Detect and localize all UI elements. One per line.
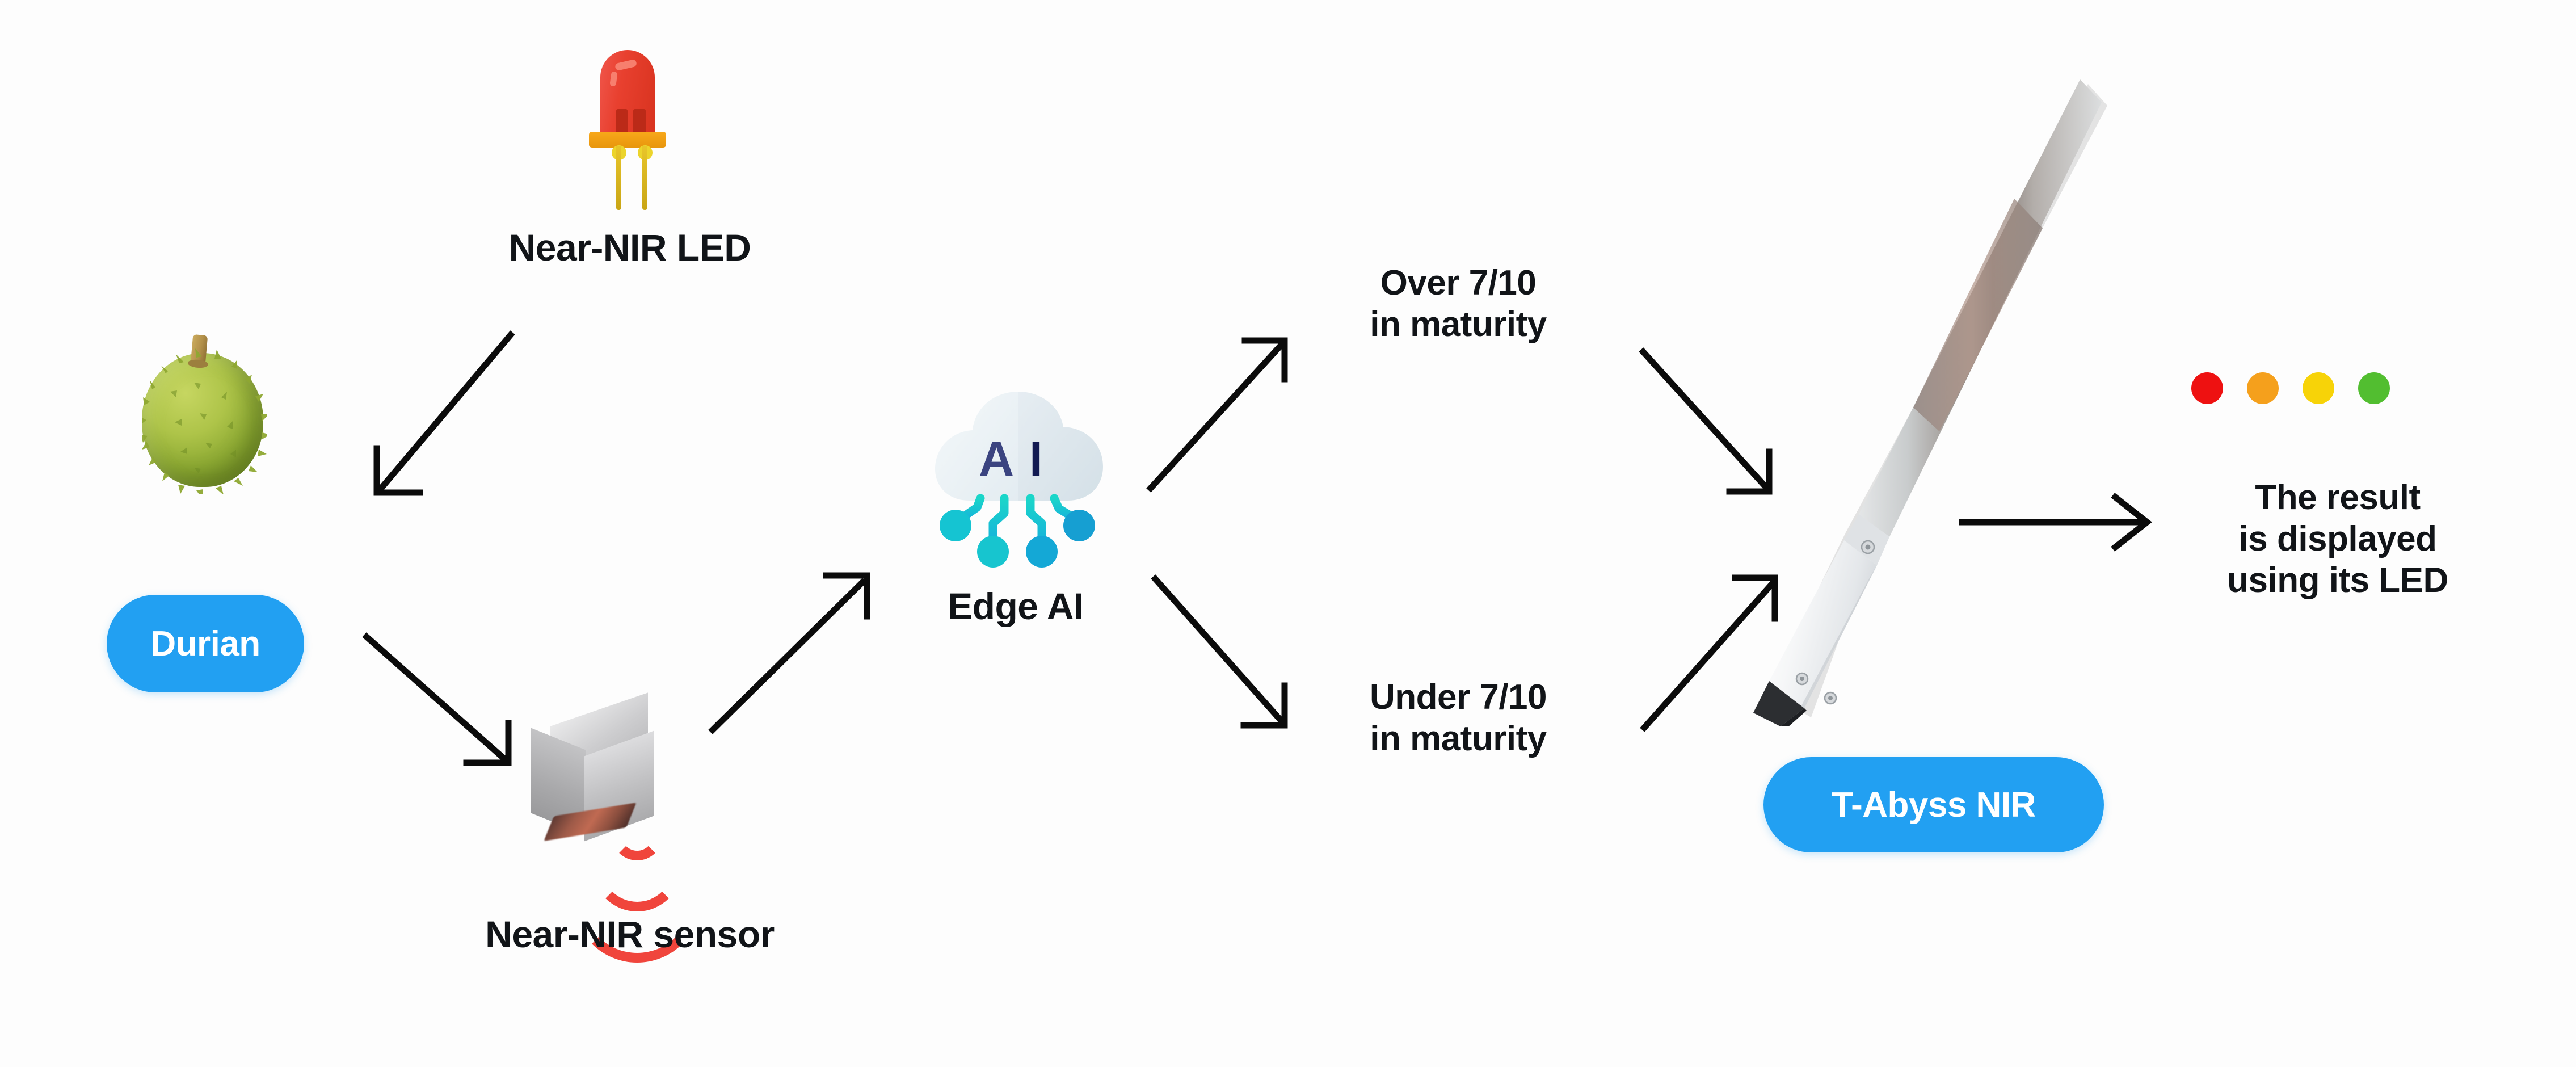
led-to-durian-path — [377, 335, 511, 493]
edge-ai-to-over — [1151, 341, 1285, 488]
over-to-device — [1643, 352, 1769, 492]
device-to-result — [1962, 497, 2147, 547]
sensor-to-edge-ai — [713, 575, 867, 730]
diagram-canvas: Near-NIR LED — [0, 0, 2576, 1067]
under-to-device — [1644, 578, 1775, 728]
edge-ai-to-under — [1155, 579, 1285, 725]
durian-to-sensor — [367, 637, 508, 763]
flow-arrows — [0, 0, 2576, 1067]
